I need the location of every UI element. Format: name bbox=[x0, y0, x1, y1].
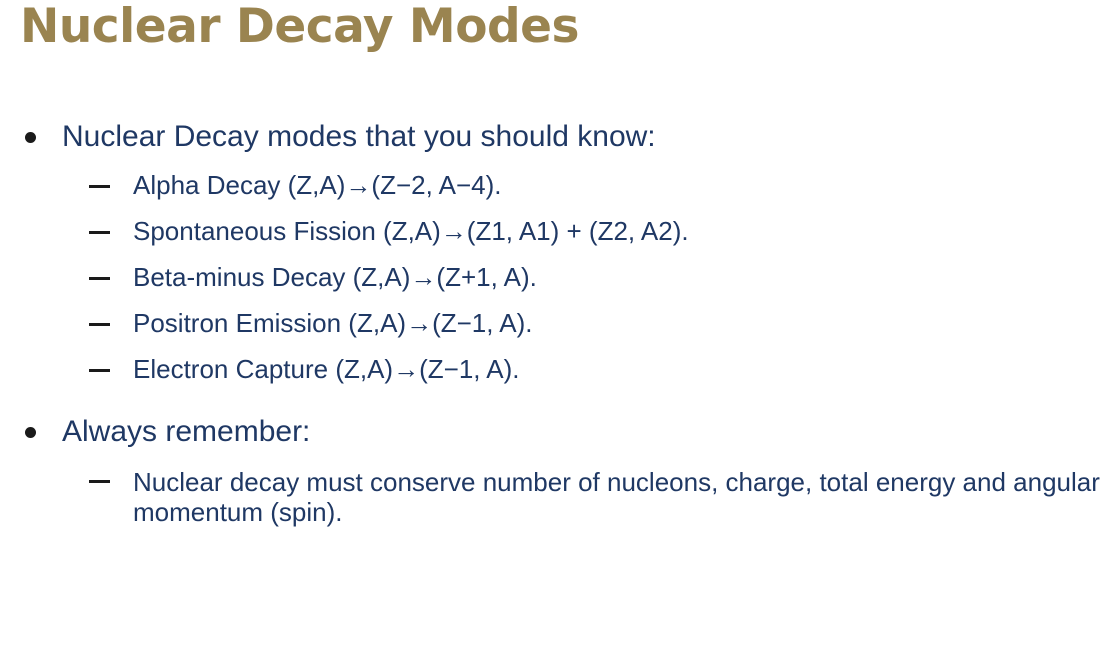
bullet-item-level2: Alpha Decay (Z,A)→(Z−2, A−4). bbox=[0, 171, 1118, 201]
bullet-item-level2: Electron Capture (Z,A)→(Z−1, A). bbox=[0, 355, 1118, 385]
bullet-dot-icon bbox=[25, 132, 36, 143]
bullet-dash-icon bbox=[89, 185, 110, 188]
spacer bbox=[0, 401, 1118, 415]
slide-canvas: Nuclear Decay Modes Nuclear Decay modes … bbox=[0, 0, 1118, 663]
bullet-dash-icon bbox=[89, 277, 110, 280]
bullet-dash-marker bbox=[0, 355, 133, 385]
bullet-dash-marker bbox=[0, 466, 133, 496]
bullet-item-level2: Nuclear decay must conserve number of nu… bbox=[0, 466, 1118, 528]
bullet-dash-icon bbox=[89, 323, 110, 326]
bullet-dash-icon bbox=[89, 369, 110, 372]
bullet-dash-marker bbox=[0, 263, 133, 293]
page-title: Nuclear Decay Modes bbox=[20, 0, 579, 57]
bullet-text: Beta-minus Decay (Z,A)→(Z+1, A). bbox=[133, 263, 553, 290]
bullet-text: Positron Emission (Z,A)→(Z−1, A). bbox=[133, 309, 548, 336]
bullet-dot-icon bbox=[25, 427, 36, 438]
bullet-item-level1: Nuclear Decay modes that you should know… bbox=[0, 120, 1118, 154]
bullet-dot-marker bbox=[0, 415, 62, 449]
bullet-dash-icon bbox=[89, 231, 110, 234]
bullet-text: Electron Capture (Z,A)→(Z−1, A). bbox=[133, 355, 536, 382]
bullet-dash-marker bbox=[0, 217, 133, 247]
slide-body: Nuclear Decay modes that you should know… bbox=[0, 120, 1118, 544]
bullet-dash-marker bbox=[0, 171, 133, 201]
bullet-text: Nuclear Decay modes that you should know… bbox=[62, 120, 656, 152]
bullet-text: Nuclear decay must conserve number of nu… bbox=[133, 466, 1118, 528]
bullet-dash-marker bbox=[0, 309, 133, 339]
bullet-dot-marker bbox=[0, 120, 62, 154]
bullet-item-level2: Spontaneous Fission (Z,A)→(Z1, A1) + (Z2… bbox=[0, 217, 1118, 247]
bullet-text: Alpha Decay (Z,A)→(Z−2, A−4). bbox=[133, 171, 517, 198]
bullet-item-level2: Beta-minus Decay (Z,A)→(Z+1, A). bbox=[0, 263, 1118, 293]
bullet-text: Always remember: bbox=[62, 415, 310, 447]
bullet-item-level2: Positron Emission (Z,A)→(Z−1, A). bbox=[0, 309, 1118, 339]
bullet-text: Spontaneous Fission (Z,A)→(Z1, A1) + (Z2… bbox=[133, 217, 705, 244]
bullet-dash-icon bbox=[89, 480, 110, 483]
bullet-item-level1: Always remember: bbox=[0, 415, 1118, 449]
